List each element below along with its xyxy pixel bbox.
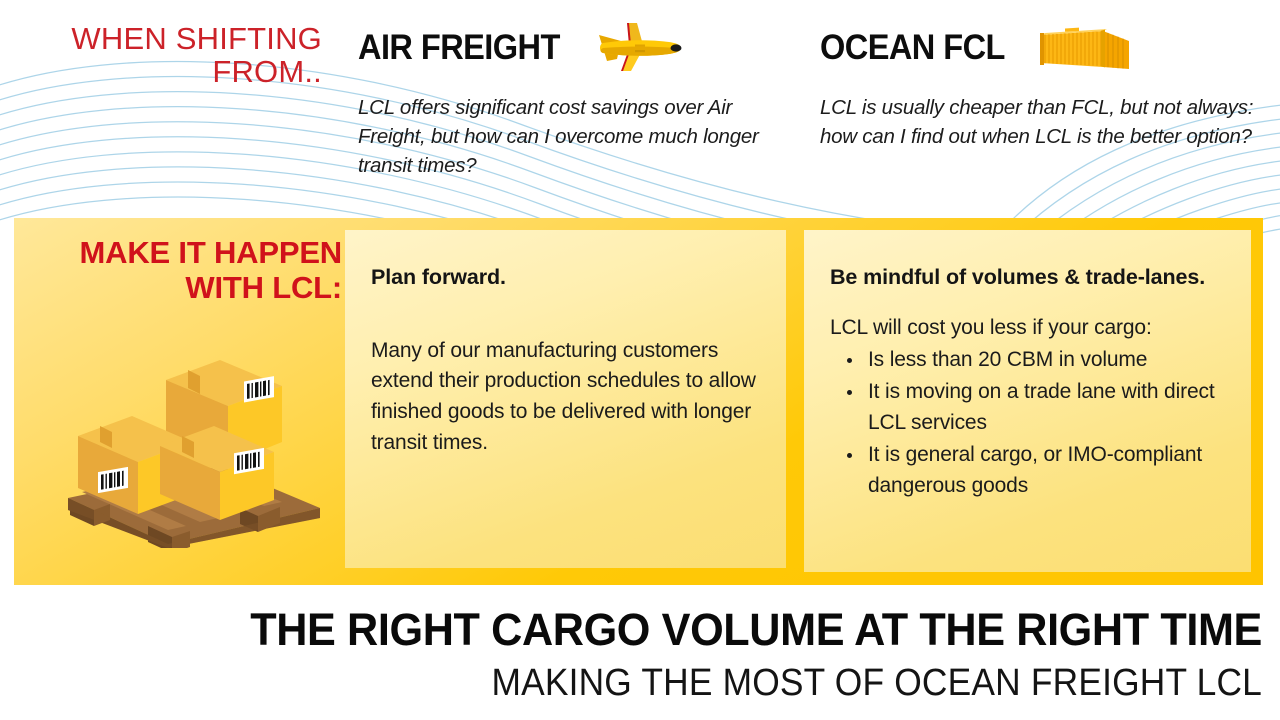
card-bullet-list: Is less than 20 CBM in volume It is movi… bbox=[830, 345, 1227, 501]
column-header-ocean: OCEAN FCL bbox=[820, 20, 1260, 76]
column-title-air: AIR FREIGHT bbox=[358, 28, 560, 68]
list-item: It is moving on a trade lane with direct… bbox=[864, 377, 1227, 439]
footer-headline: THE RIGHT CARGO VOLUME AT THE RIGHT TIME bbox=[50, 604, 1262, 656]
column-quote-ocean: LCL is usually cheaper than FCL, but not… bbox=[820, 93, 1260, 151]
card-plan-forward: Plan forward. Many of our manufacturing … bbox=[345, 230, 786, 568]
card-heading: Be mindful of volumes & trade-lanes. bbox=[830, 264, 1227, 292]
card-body-intro: LCL will cost you less if your cargo: bbox=[830, 316, 1152, 339]
footer-subhead: MAKING THE MOST OF OCEAN FREIGHT LCL bbox=[88, 662, 1262, 705]
card-volumes-trade-lanes: Be mindful of volumes & trade-lanes. LCL… bbox=[804, 230, 1251, 572]
card-heading: Plan forward. bbox=[371, 264, 760, 292]
column-air-freight: AIR FREIGHT LCL offers significant cost … bbox=[358, 20, 788, 180]
panel-title: MAKE IT HAPPEN WITH LCL: bbox=[50, 236, 342, 305]
column-title-ocean: OCEAN FCL bbox=[820, 28, 1005, 68]
column-ocean-fcl: OCEAN FCL bbox=[820, 20, 1260, 151]
shipping-container-icon bbox=[1035, 19, 1135, 77]
column-quote-air: LCL offers significant cost savings over… bbox=[358, 93, 788, 180]
infographic-canvas: WHEN SHIFTING FROM.. AIR FREIGHT bbox=[0, 0, 1280, 720]
list-item: Is less than 20 CBM in volume bbox=[864, 345, 1227, 376]
make-it-happen-panel: MAKE IT HAPPEN WITH LCL: bbox=[14, 218, 1263, 585]
card-body: LCL will cost you less if your cargo: Is… bbox=[830, 313, 1227, 502]
pallet-with-boxes-illustration bbox=[48, 358, 338, 548]
column-header-air: AIR FREIGHT bbox=[358, 20, 788, 76]
airplane-icon bbox=[591, 19, 687, 77]
card-body: Many of our manufacturing customers exte… bbox=[371, 336, 760, 459]
when-shifting-from-label: WHEN SHIFTING FROM.. bbox=[40, 22, 322, 89]
list-item: It is general cargo, or IMO-compliant da… bbox=[864, 440, 1227, 502]
